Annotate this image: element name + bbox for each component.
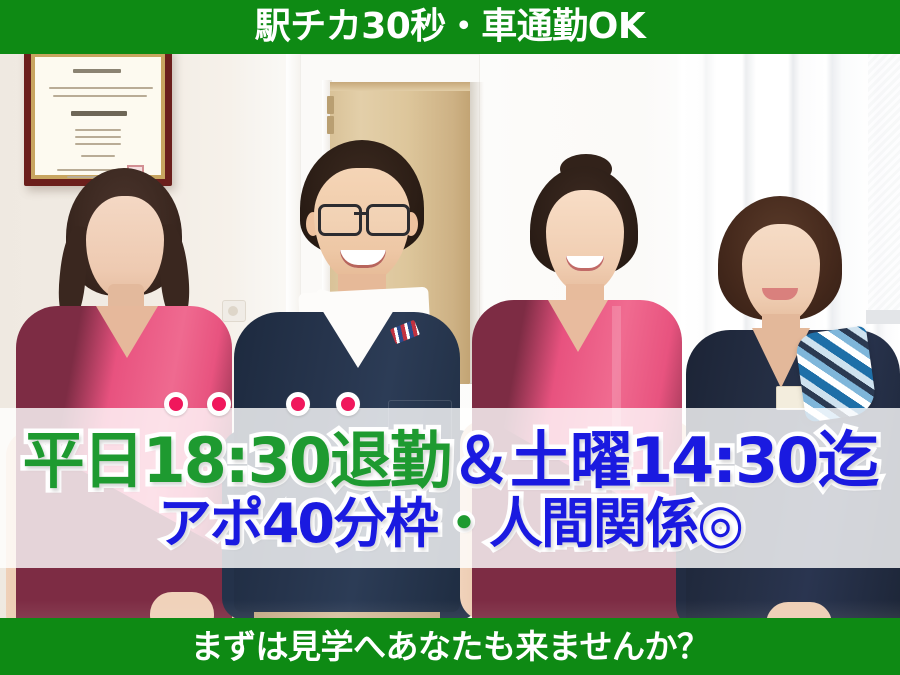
frosted-glass-panel xyxy=(868,20,900,320)
eyeglasses-icon xyxy=(318,204,362,236)
accent-dot-icon xyxy=(164,392,188,416)
top-banner: 駅チカ30秒・車通勤OK xyxy=(0,0,900,54)
door-hinge-icon xyxy=(327,116,334,134)
window-sill xyxy=(866,310,900,324)
eyeglasses-icon xyxy=(366,204,410,236)
certificate-frame-inner xyxy=(31,53,165,179)
clinic-staff-photo xyxy=(0,0,900,675)
recruitment-poster: 駅チカ30秒・車通勤OK 平日18:30退勤＆土曜14:30迄 アポ40分枠・人… xyxy=(0,0,900,675)
eyeglasses-bridge xyxy=(354,212,368,215)
accent-dot-icon xyxy=(207,392,231,416)
accent-dot-icon xyxy=(336,392,360,416)
certificate-paper xyxy=(35,57,161,175)
accent-dot-icon xyxy=(286,392,310,416)
certificate-frame xyxy=(24,46,172,186)
top-banner-text: 駅チカ30秒・車通勤OK xyxy=(255,7,646,47)
bottom-banner: まずは見学へあなたも来ませんか？ xyxy=(0,618,900,675)
door-top-edge xyxy=(330,82,470,91)
wall-fixture xyxy=(222,300,246,322)
door-hinge-icon xyxy=(327,96,334,114)
headline-band xyxy=(0,408,900,568)
bottom-banner-text: まずは見学へあなたも来ませんか？ xyxy=(190,628,709,666)
